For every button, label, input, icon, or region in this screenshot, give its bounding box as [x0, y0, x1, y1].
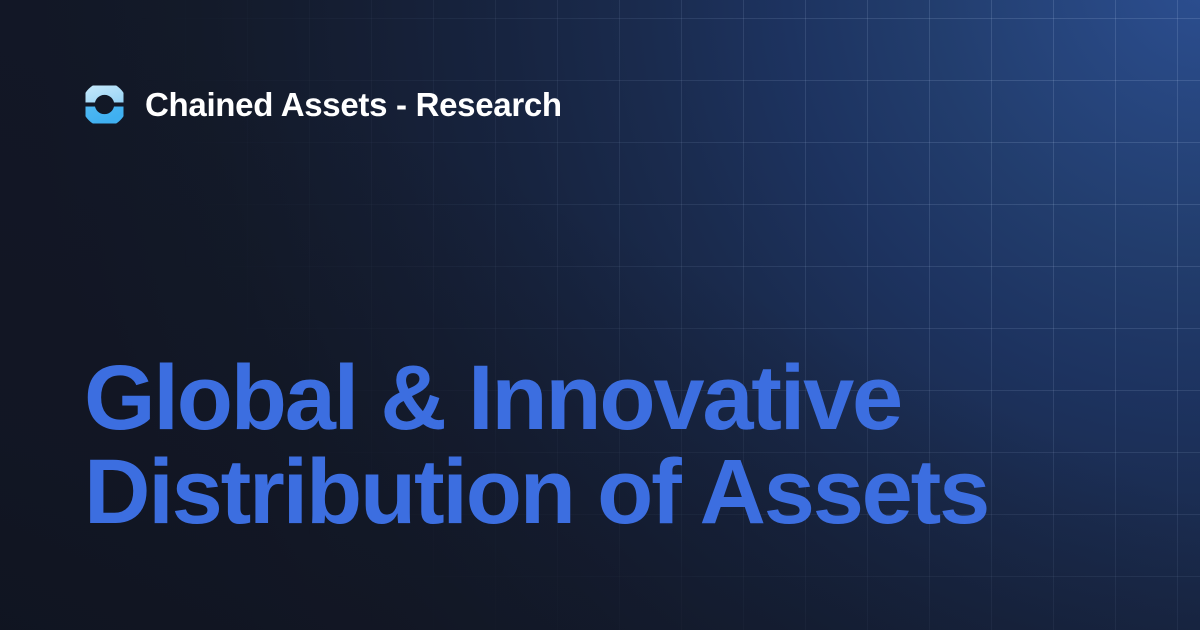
headline-line-1: Global & Innovative: [84, 352, 1144, 446]
headline-block: Global & Innovative Distribution of Asse…: [84, 352, 1144, 540]
og-share-card: Chained Assets - Research Global & Innov…: [0, 0, 1200, 630]
chained-assets-ring-logo-icon: [82, 82, 127, 127]
brand-header: Chained Assets - Research: [82, 80, 562, 128]
headline-line-2: Distribution of Assets: [84, 446, 1144, 540]
brand-name-label: Chained Assets - Research: [145, 88, 562, 121]
